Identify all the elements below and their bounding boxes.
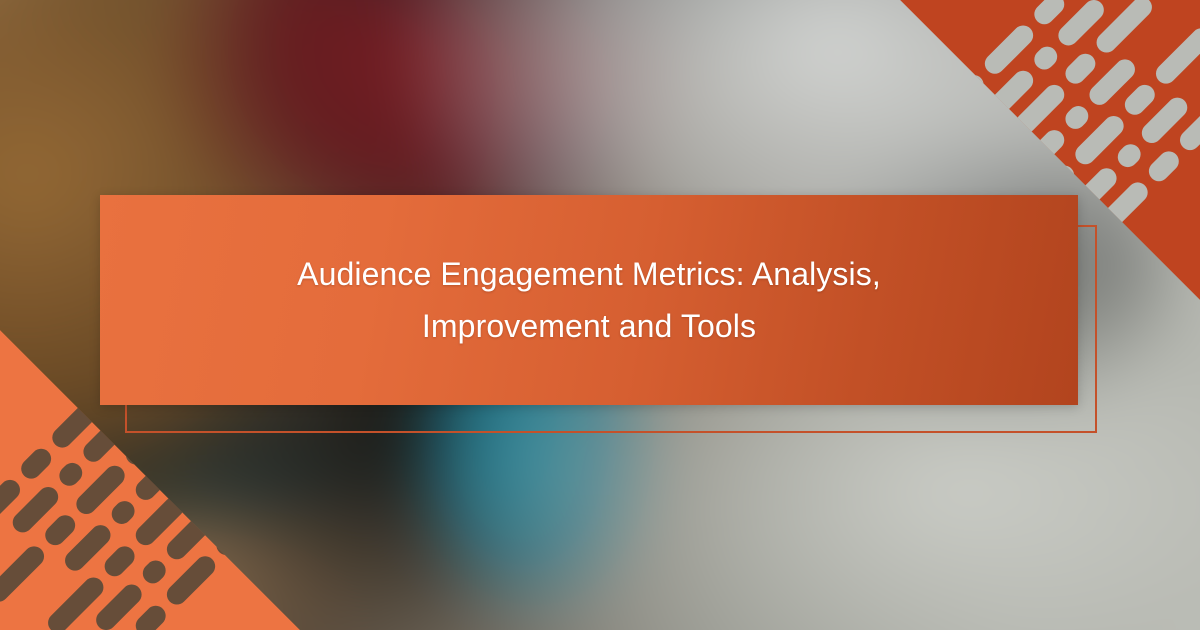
- social-card-canvas: Audience Engagement Metrics: Analysis, I…: [0, 0, 1200, 630]
- page-title: Audience Engagement Metrics: Analysis, I…: [209, 248, 969, 352]
- title-card: Audience Engagement Metrics: Analysis, I…: [100, 195, 1078, 405]
